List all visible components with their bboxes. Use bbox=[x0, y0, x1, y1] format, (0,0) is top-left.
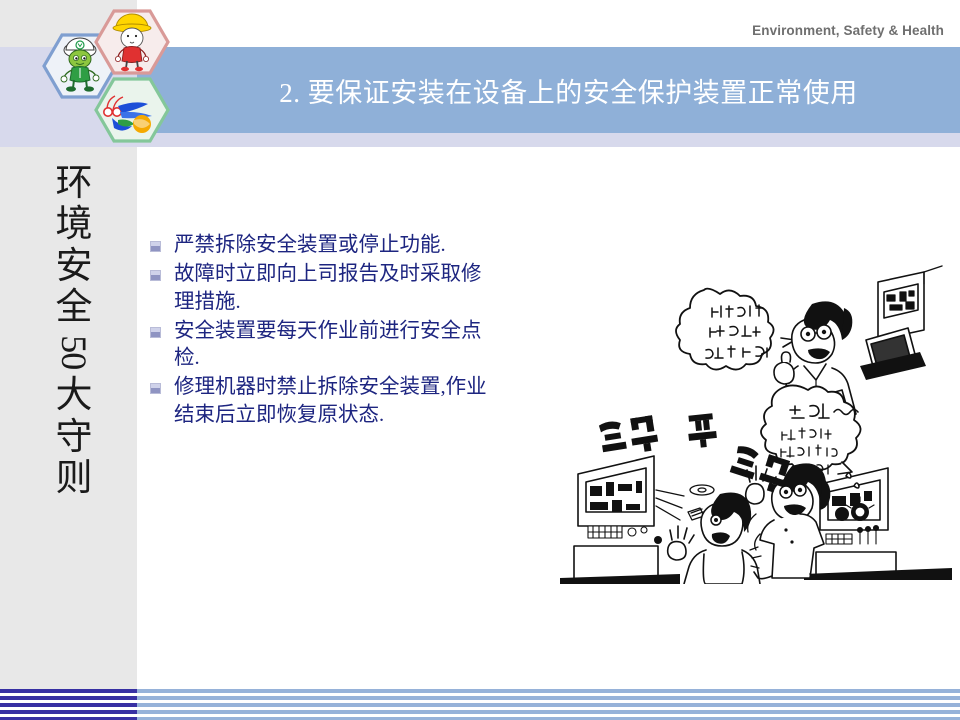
sidebar-vertical-title: 环 境 安 全 50 大 守 则 bbox=[48, 163, 100, 500]
bullet-square-icon bbox=[150, 383, 161, 394]
sidebar-number: 50 bbox=[53, 326, 95, 378]
sidebar-char-1: 境 bbox=[48, 204, 100, 245]
bullet-list: 严禁拆除安全装置或停止功能. 故障时立即向上司报告及时采取修理措施. 安全装置要… bbox=[150, 232, 500, 431]
bullet-text: 严禁拆除安全装置或停止功能. bbox=[174, 232, 500, 259]
bullet-square-icon bbox=[150, 270, 161, 281]
bullet-text: 故障时立即向上司报告及时采取修理措施. bbox=[174, 261, 500, 316]
stripe bbox=[0, 689, 960, 693]
stripe bbox=[0, 696, 960, 700]
list-item: 严禁拆除安全装置或停止功能. bbox=[150, 232, 500, 259]
sidebar-char-2: 安 bbox=[48, 246, 100, 287]
header-brand-text: Environment, Safety & Health bbox=[752, 23, 944, 38]
title-band-underline bbox=[137, 133, 960, 147]
bottom-stripe-decoration bbox=[0, 689, 960, 720]
page-title: 2. 要保证安装在设备上的安全保护装置正常使用 bbox=[137, 47, 960, 133]
slide-canvas: Environment, Safety & Health 2. 要保证安装在设备… bbox=[0, 0, 960, 720]
sidebar-char-5: 守 bbox=[48, 417, 100, 458]
stripe bbox=[0, 703, 960, 707]
bullet-square-icon bbox=[150, 241, 161, 252]
stripe bbox=[0, 710, 960, 714]
sidebar-char-4: 大 bbox=[48, 375, 100, 416]
safety-cartoon-illustration bbox=[560, 262, 952, 584]
sidebar-lavender-band bbox=[0, 47, 137, 147]
bullet-text: 安全装置要每天作业前进行安全点检. bbox=[174, 318, 500, 373]
bullet-text: 修理机器时禁止拆除安全装置,作业结束后立即恢复原状态. bbox=[174, 374, 500, 429]
sidebar-char-0: 环 bbox=[48, 163, 100, 204]
sidebar-char-6: 则 bbox=[48, 458, 100, 499]
list-item: 修理机器时禁止拆除安全装置,作业结束后立即恢复原状态. bbox=[150, 374, 500, 429]
list-item: 安全装置要每天作业前进行安全点检. bbox=[150, 318, 500, 373]
sidebar-char-3: 全 bbox=[48, 287, 100, 328]
list-item: 故障时立即向上司报告及时采取修理措施. bbox=[150, 261, 500, 316]
bullet-square-icon bbox=[150, 327, 161, 338]
